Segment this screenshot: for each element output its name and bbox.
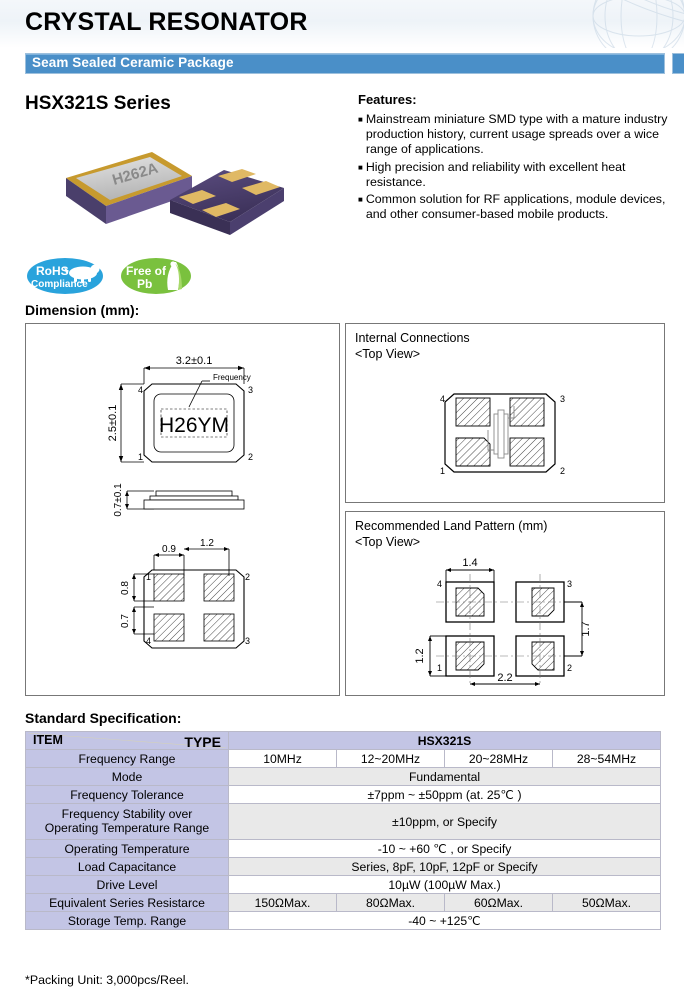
banner-edge-tab: [672, 53, 684, 74]
row-item-label: Mode: [26, 768, 229, 786]
table-row: Frequency Tolerance ±7ppm ~ ±50ppm (at. …: [26, 786, 661, 804]
row-value: 20~28MHz: [445, 750, 553, 768]
bottom-view-dim-1-2: 1.2: [200, 538, 214, 549]
packing-note: *Packing Unit: 3,000pcs/Reel.: [25, 973, 189, 987]
table-header-row: TYPE ITEM HSX321S: [26, 732, 661, 750]
side-view-thickness-dim: 0.7±0.1: [113, 483, 124, 517]
free-of-pb-badge: Free of Pb: [120, 256, 192, 296]
feature-item: ■ Common solution for RF applications, m…: [358, 192, 668, 222]
type-value-header: HSX321S: [229, 732, 661, 750]
row-item-label: Operating Temperature: [26, 840, 229, 858]
dimension-drawing-panel: 3.2±0.1 2.5±0.1 H26YM Frequency 4 3 1 2: [25, 323, 340, 696]
row-value: Series, 8pF, 10pF, 12pF or Specify: [229, 858, 661, 876]
top-view-pin-2: 2: [248, 452, 253, 462]
row-value: ±7ppm ~ ±50ppm (at. 25℃ ): [229, 786, 661, 804]
top-view-height-dim: 2.5±0.1: [107, 405, 119, 442]
row-value: -10 ~ +60 ℃ , or Specify: [229, 840, 661, 858]
internal-pin-2: 2: [560, 466, 565, 476]
feature-text: Common solution for RF applications, mod…: [366, 192, 668, 222]
frequency-callout-label: Frequency: [213, 373, 251, 382]
row-item-label: Frequency Stability overOperating Temper…: [26, 804, 229, 840]
row-value: ±10ppm, or Specify: [229, 804, 661, 840]
bottom-view-dim-0-7: 0.7: [120, 614, 131, 628]
pb-line1: Free of: [126, 264, 167, 278]
table-row: Operating Temperature -10 ~ +60 ℃ , or S…: [26, 840, 661, 858]
internal-connections-title: Internal Connections: [355, 331, 470, 345]
row-value: 150ΩMax.: [229, 894, 337, 912]
subtitle-banner: Seam Sealed Ceramic Package: [25, 53, 665, 74]
series-title: HSX321S Series: [25, 93, 171, 115]
top-view-pin-3: 3: [248, 385, 253, 395]
rohs-line2: Compliance: [31, 279, 88, 290]
land-dim-bottom: 2.2: [497, 672, 512, 684]
land-dim-left: 1.2: [414, 648, 426, 663]
feature-text: High precision and reliability with exce…: [366, 160, 668, 190]
row-value: 28~54MHz: [553, 750, 661, 768]
land-pin-1: 1: [437, 663, 442, 673]
features-section: Features: ■ Mainstream miniature SMD typ…: [358, 92, 668, 225]
feature-text: Mainstream miniature SMD type with a mat…: [366, 112, 668, 157]
row-item-label: Frequency Range: [26, 750, 229, 768]
table-row: Frequency Range 10MHz 12~20MHz 20~28MHz …: [26, 750, 661, 768]
row-item-label: Frequency Tolerance: [26, 786, 229, 804]
table-row: Frequency Stability overOperating Temper…: [26, 804, 661, 840]
page-title: CRYSTAL RESONATOR: [25, 8, 308, 37]
top-view-pin-1: 1: [138, 452, 143, 462]
land-pattern-title: Recommended Land Pattern (mm): [355, 519, 547, 533]
square-bullet-icon: ■: [358, 192, 363, 222]
land-pattern-subtitle: <Top View>: [355, 535, 420, 549]
table-row: Drive Level 10µW (100µW Max.): [26, 876, 661, 894]
subtitle-banner-text: Seam Sealed Ceramic Package: [32, 55, 234, 70]
compliance-badges: RoHS Compliance Free of Pb: [26, 256, 192, 296]
table-row: Storage Temp. Range -40 ~ +125℃: [26, 912, 661, 930]
row-value: 10MHz: [229, 750, 337, 768]
internal-connections-subtitle: <Top View>: [355, 347, 420, 361]
bottom-view-dim-0-8: 0.8: [120, 581, 131, 595]
land-pin-3: 3: [567, 579, 572, 589]
row-item-label: Drive Level: [26, 876, 229, 894]
land-pin-4: 4: [437, 579, 442, 589]
row-value: 12~20MHz: [337, 750, 445, 768]
table-row: Load Capacitance Series, 8pF, 10pF, 12pF…: [26, 858, 661, 876]
corner-cell: TYPE ITEM: [26, 732, 229, 750]
row-value: 10µW (100µW Max.): [229, 876, 661, 894]
land-dim-top: 1.4: [462, 557, 477, 569]
dimension-heading: Dimension (mm):: [25, 302, 139, 318]
table-row: Mode Fundamental: [26, 768, 661, 786]
top-view-pin-4: 4: [138, 385, 143, 395]
features-heading: Features:: [358, 92, 668, 107]
internal-connections-panel: Internal Connections <Top View> 4 3 1 2: [345, 323, 665, 503]
feature-item: ■ High precision and reliability with ex…: [358, 160, 668, 190]
rohs-line1: RoHS: [36, 264, 69, 278]
row-value: 80ΩMax.: [337, 894, 445, 912]
spec-heading: Standard Specification:: [25, 710, 181, 726]
standard-specification-table: TYPE ITEM HSX321S Frequency Range 10MHz …: [25, 731, 661, 930]
land-pin-2: 2: [567, 663, 572, 673]
row-value: 50ΩMax.: [553, 894, 661, 912]
top-view-part-marking: H26YM: [159, 414, 229, 437]
land-pattern-panel: Recommended Land Pattern (mm) <Top View>…: [345, 511, 665, 696]
bottom-view-pin-1: 1: [146, 572, 151, 582]
row-value: Fundamental: [229, 768, 661, 786]
row-item-label: Storage Temp. Range: [26, 912, 229, 930]
bottom-view-pin-2: 2: [245, 572, 250, 582]
row-item-label: Load Capacitance: [26, 858, 229, 876]
internal-pin-3: 3: [560, 394, 565, 404]
bottom-view-pin-3: 3: [245, 636, 250, 646]
table-row: Equivalent Series Resistarce 150ΩMax. 80…: [26, 894, 661, 912]
bottom-view-dim-0-9: 0.9: [162, 544, 176, 555]
internal-pin-1: 1: [440, 466, 445, 476]
corner-type-label: TYPE: [184, 734, 221, 750]
feature-item: ■ Mainstream miniature SMD type with a m…: [358, 112, 668, 157]
corner-item-label: ITEM: [33, 733, 63, 747]
row-value: 60ΩMax.: [445, 894, 553, 912]
bottom-view-pin-4: 4: [146, 636, 151, 646]
globe-watermark-icon: [544, 0, 684, 48]
rohs-compliance-badge: RoHS Compliance: [26, 256, 104, 296]
product-photo: H262A: [52, 140, 312, 250]
square-bullet-icon: ■: [358, 112, 363, 157]
land-dim-right: 1.7: [580, 621, 592, 636]
row-value: -40 ~ +125℃: [229, 912, 661, 930]
row-item-label: Equivalent Series Resistarce: [26, 894, 229, 912]
square-bullet-icon: ■: [358, 160, 363, 190]
pb-line2: Pb: [137, 277, 152, 291]
top-view-width-dim: 3.2±0.1: [176, 355, 213, 367]
internal-pin-4: 4: [440, 394, 445, 404]
